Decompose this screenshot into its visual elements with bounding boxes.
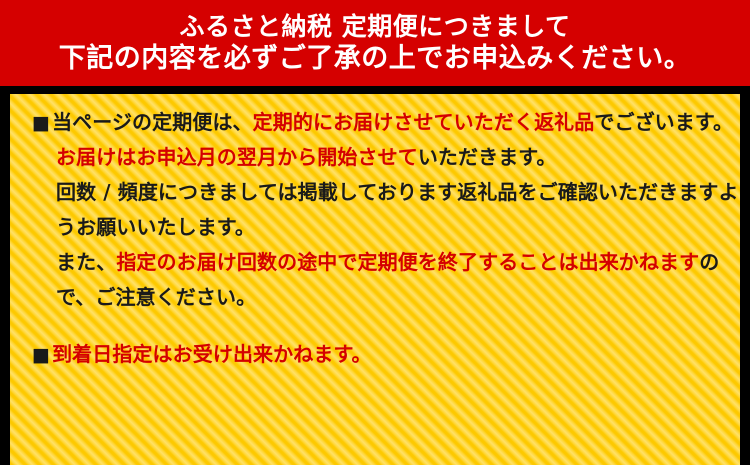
notice-line: うお願いいたします。	[32, 210, 722, 245]
body-text: うお願いいたします。	[56, 215, 255, 239]
emphasis-text: 指定のお届け回数の途中で定期便を終了することは出来かねます	[116, 250, 699, 274]
notice-panel: ■当ページの定期便は、定期的にお届けさせていただく返礼品でございます。お届けはお…	[10, 94, 740, 465]
notice-line: お届けはお申込月の翌月から開始させていただきます。	[32, 140, 722, 175]
body-text: でございます。	[594, 110, 733, 134]
notice-body: ■当ページの定期便は、定期的にお届けさせていただく返礼品でございます。お届けはお…	[32, 105, 722, 372]
furusato-notice-banner: ふるさと納税 定期便につきまして 下記の内容を必ずご了承の上でお申込みください。…	[0, 0, 750, 465]
notice-line: ■到着日指定はお受け出来かねます。	[32, 337, 722, 372]
body-text: 当ページの定期便は、	[52, 110, 253, 134]
header-title-line-2: 下記の内容を必ずご了承の上でお申込みください。	[59, 45, 692, 72]
emphasis-text: お届けはお申込月の翌月から開始させて	[56, 145, 418, 169]
notice-line: で、ご注意ください。	[32, 280, 722, 315]
bullet-square-icon: ■	[32, 344, 50, 366]
emphasis-text: 到着日指定はお受け出来かねます。	[52, 342, 372, 366]
header-title-line-1: ふるさと納税 定期便につきまして	[180, 14, 571, 39]
body-text: いただきます。	[418, 145, 557, 169]
body-text: 回数 / 頻度につきましては掲載しております返礼品をご確認いただきますよ	[56, 180, 739, 204]
paragraph-gap	[32, 315, 722, 337]
banner-header: ふるさと納税 定期便につきまして 下記の内容を必ずご了承の上でお申込みください。	[0, 0, 750, 86]
notice-line: ■当ページの定期便は、定期的にお届けさせていただく返礼品でございます。	[32, 105, 722, 140]
emphasis-text: 定期的にお届けさせていただく返礼品	[253, 110, 595, 134]
notice-line: 回数 / 頻度につきましては掲載しております返礼品をご確認いただきますよ	[32, 175, 722, 210]
body-text: また、	[56, 250, 116, 274]
bullet-square-icon: ■	[32, 112, 50, 134]
body-text: の	[699, 250, 719, 274]
body-text: で、ご注意ください。	[56, 285, 256, 309]
notice-line: また、指定のお届け回数の途中で定期便を終了することは出来かねますの	[32, 245, 722, 280]
